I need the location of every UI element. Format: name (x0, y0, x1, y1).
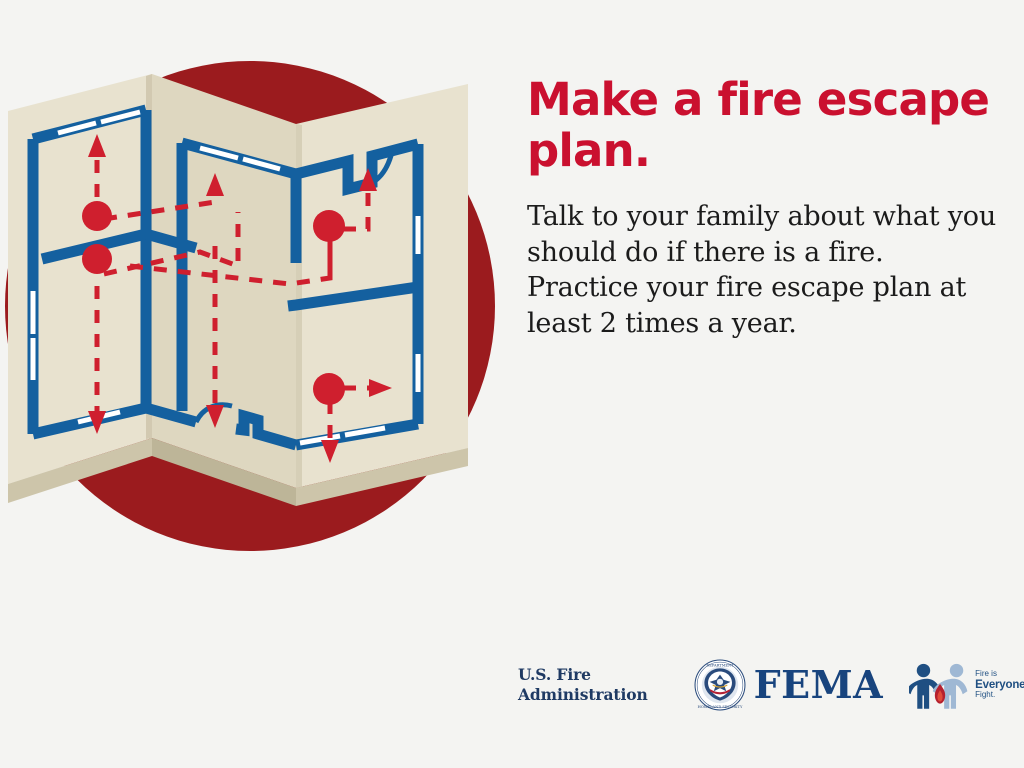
svg-text:HOMELAND SECURITY: HOMELAND SECURITY (697, 705, 742, 709)
person-dot-2 (82, 244, 112, 274)
usfa-wordmark: U.S. Fire Administration (518, 665, 648, 706)
infographic-canvas: Make a fire escape plan. Talk to your fa… (0, 0, 1024, 768)
svg-text:DEPARTMENT: DEPARTMENT (706, 663, 734, 667)
fema-wordmark: FEMA (754, 666, 884, 704)
fief-line-1: Fire is (975, 670, 1024, 679)
fief-wordmark: Fire is Everyone's Fight. (975, 670, 1024, 701)
fire-is-everyones-fight-logo: Fire is Everyone's Fight. (909, 659, 1024, 711)
person-dot-3 (313, 210, 345, 242)
footer-logo-bar: U.S. Fire Administration DEPARTMENT HOME… (518, 645, 1010, 725)
floor-plan-svg (0, 16, 500, 596)
person-dot-1 (82, 201, 112, 231)
department-of-homeland-security-seal-icon: DEPARTMENT HOMELAND SECURITY (694, 659, 746, 711)
two-figures-flame-icon (909, 659, 971, 711)
fief-line-3: Fight. (975, 691, 1024, 700)
body-paragraph: Talk to your family about what you shoul… (527, 199, 997, 343)
page-title: Make a fire escape plan. (527, 74, 997, 177)
text-column: Make a fire escape plan. Talk to your fa… (527, 74, 997, 342)
fire-escape-plan-illustration (0, 16, 500, 596)
person-dot-4 (313, 373, 345, 405)
